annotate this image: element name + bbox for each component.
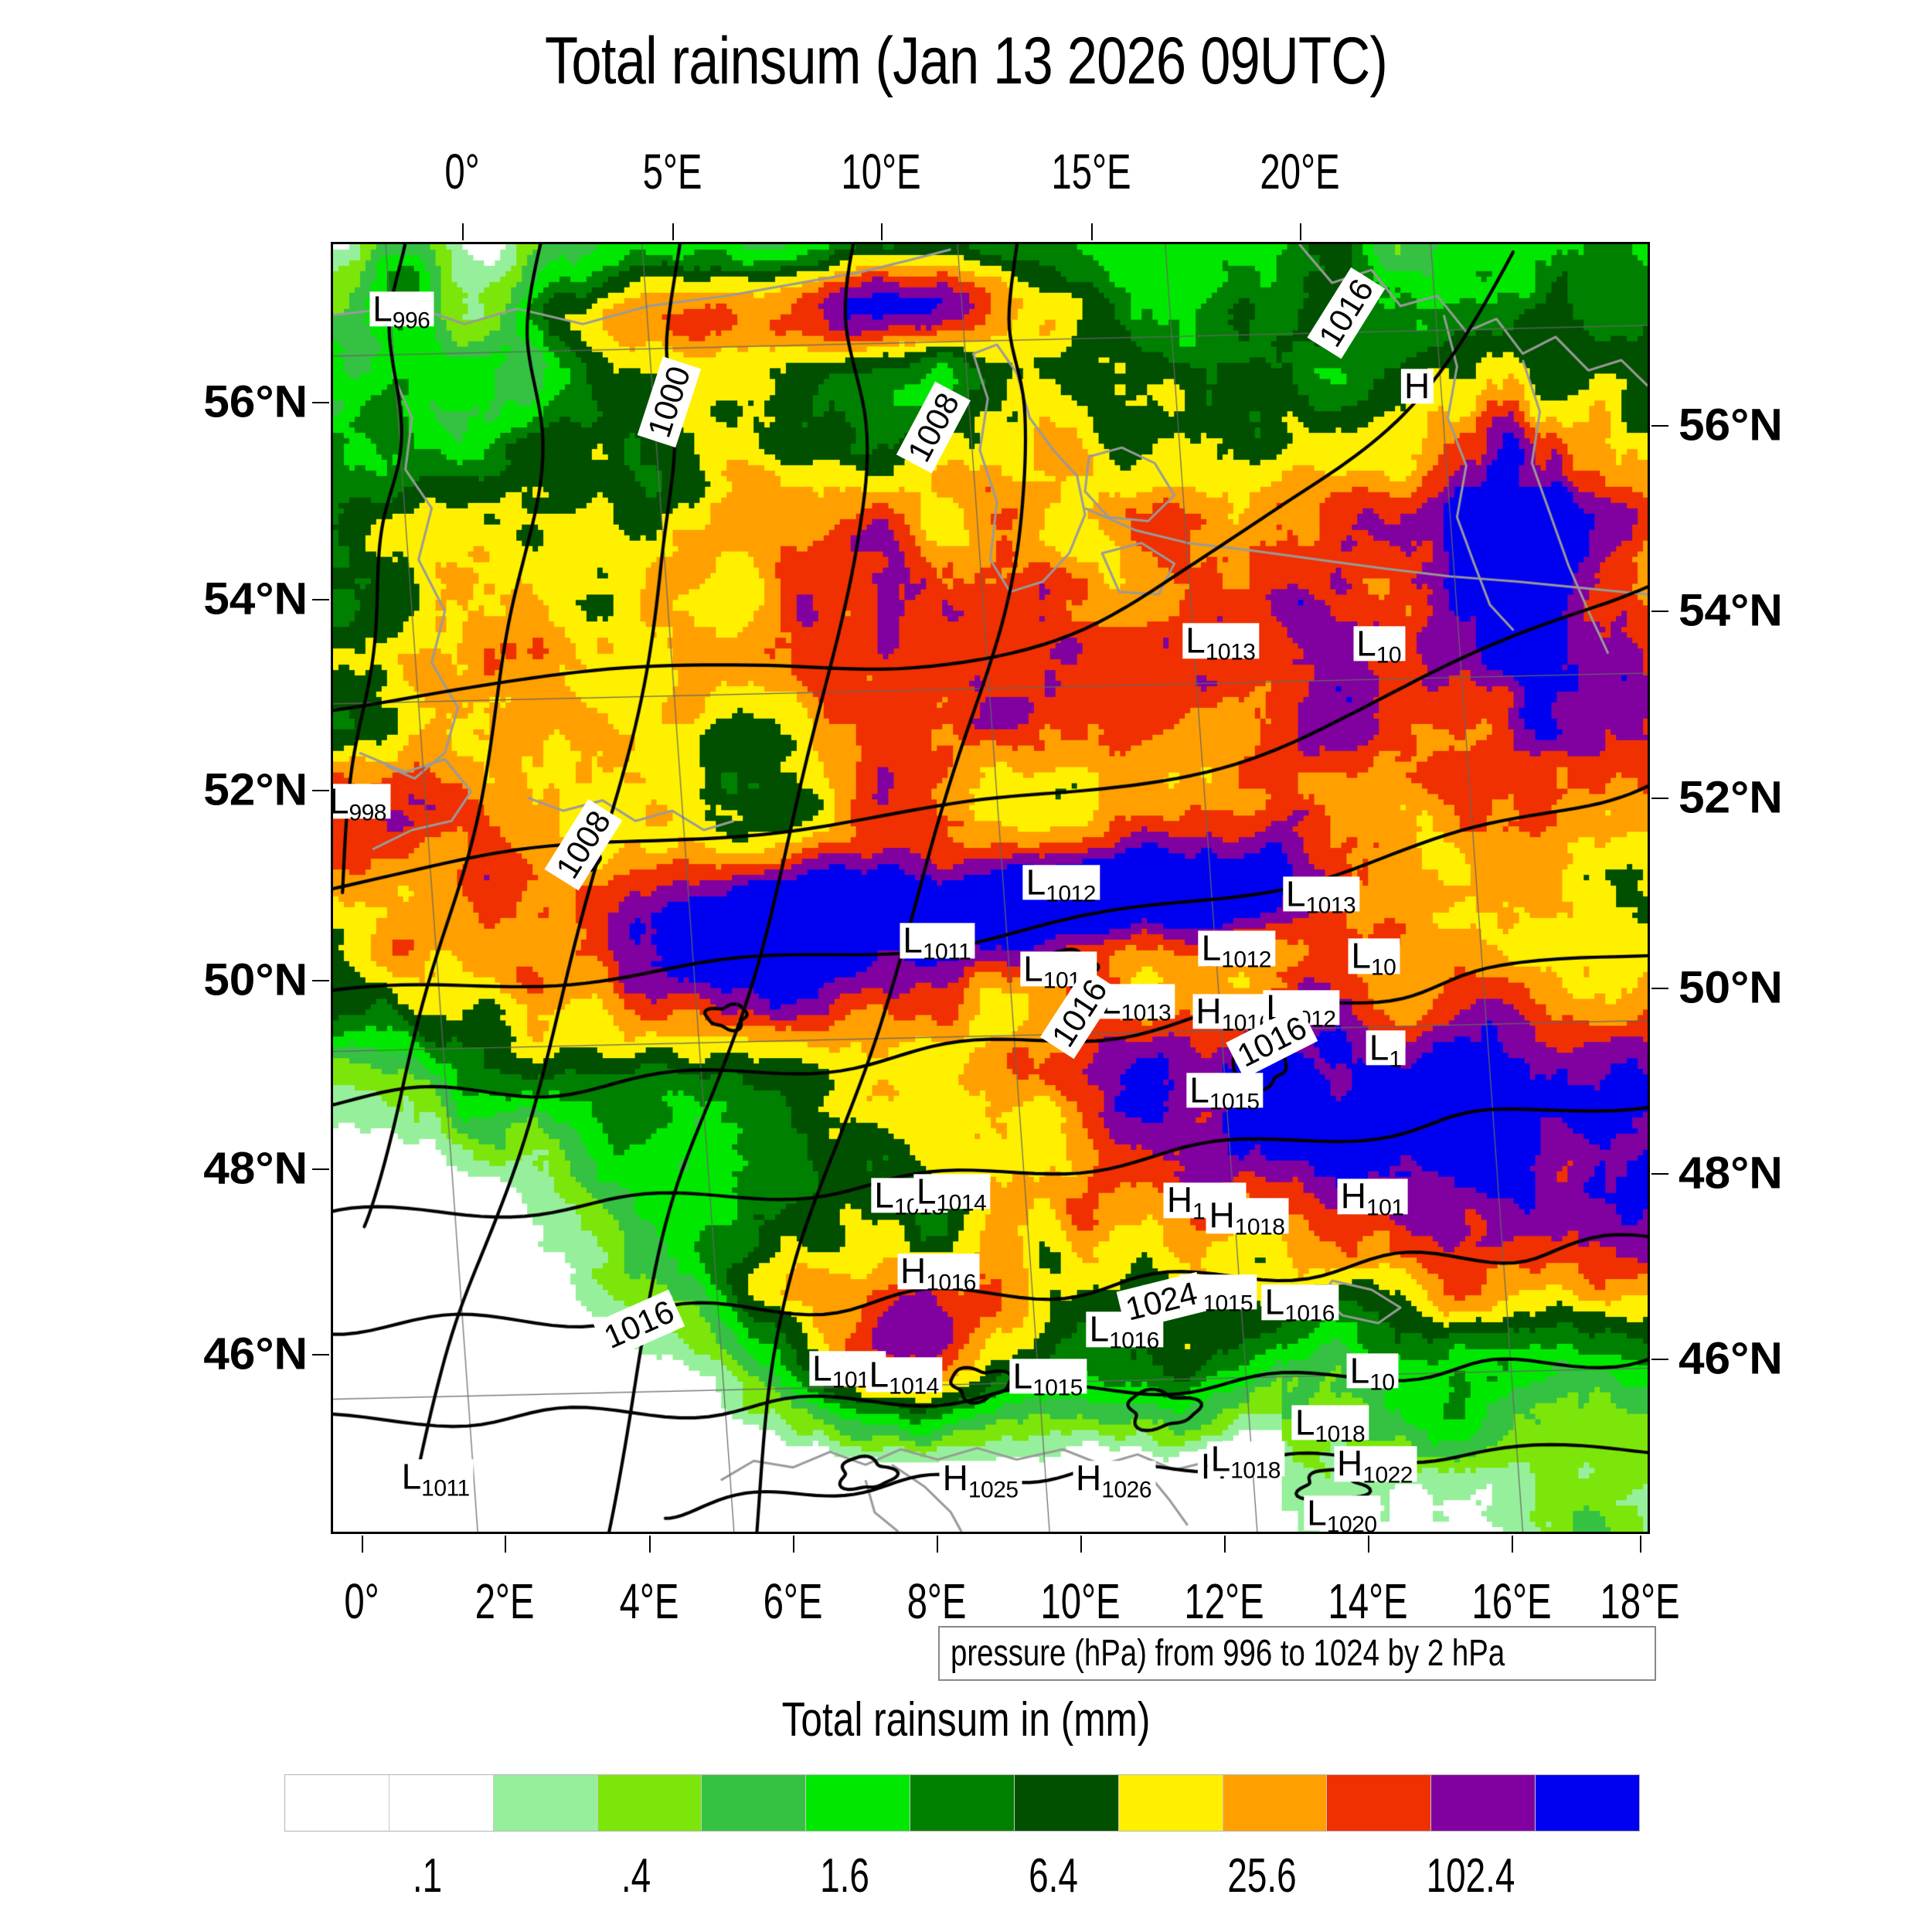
pressure-center-type: H — [900, 1251, 926, 1291]
pressure-center-type: L — [1185, 621, 1206, 661]
pressure-center-value: 1018 — [1235, 1215, 1285, 1240]
lat-right-label-0: 56°N — [1679, 400, 1783, 451]
pressure-center-type: L — [869, 1354, 889, 1394]
pressure-center-value: 1015 — [1209, 1090, 1260, 1115]
lat-left-label-4: 48°N — [203, 1143, 308, 1195]
tick-lon-bottom-0 — [362, 1536, 363, 1553]
colorbar-label-4: 25.6 — [1227, 1849, 1296, 1903]
tick-lon-bottom-4 — [937, 1536, 938, 1553]
colorbar-label-0: .1 — [413, 1849, 442, 1903]
lon-bottom-label-2: 4°E — [620, 1573, 679, 1630]
pressure-center-type: L — [903, 920, 923, 961]
tick-lat-left-0 — [312, 402, 329, 403]
colorbar[interactable] — [284, 1774, 1640, 1832]
pressure-center-l-3: L10 — [1353, 626, 1405, 661]
pressure-center-l-17: L1014 — [913, 1174, 990, 1209]
pressure-center-type: L — [1202, 928, 1222, 968]
pressure-center-value: 10 — [1371, 955, 1396, 981]
map-plot-area[interactable]: L996L998L1013L10HL1012L1013L1011L1013L10… — [331, 242, 1650, 1534]
lon-bottom-label-0: 0° — [344, 1573, 379, 1630]
pressure-center-value: 1025 — [968, 1477, 1019, 1502]
lon-bottom-label-9: 18°E — [1600, 1573, 1679, 1630]
pressure-center-l-36: L1020 — [1304, 1495, 1380, 1530]
lon-bottom-label-6: 12°E — [1184, 1573, 1264, 1630]
pressure-center-type: L — [1350, 1350, 1370, 1390]
pressure-center-type: H — [1341, 1176, 1366, 1216]
pressure-center-value: 1015 — [1032, 1375, 1083, 1400]
tick-lon-bottom-2 — [649, 1536, 651, 1553]
pressure-center-value: 1018 — [1230, 1458, 1281, 1483]
lat-left-label-3: 50°N — [203, 954, 308, 1006]
tick-lat-right-1 — [1651, 611, 1668, 612]
pressure-center-type: H — [1076, 1458, 1101, 1498]
tick-lat-left-5 — [312, 1354, 329, 1355]
pressure-center-type: L — [1023, 948, 1043, 988]
pressure-center-value: 1 — [1389, 1046, 1401, 1072]
pressure-center-l-23: L1016 — [1262, 1285, 1338, 1320]
pressure-center-type: L — [1286, 873, 1306, 913]
pressure-center-l-1: L998 — [331, 784, 390, 818]
rainfall-heatmap-canvas — [333, 244, 1648, 1532]
pressure-center-value: 1014 — [889, 1373, 939, 1399]
lon-bottom-label-5: 10°E — [1040, 1573, 1120, 1630]
lon-bottom-label-4: 8°E — [907, 1573, 967, 1630]
lat-right-label-5: 46°N — [1679, 1333, 1783, 1385]
tick-lon-bottom-5 — [1080, 1536, 1082, 1553]
pressure-center-h-4: H — [1401, 369, 1434, 403]
pressure-center-l-0: L996 — [369, 291, 434, 326]
tick-lon-top-3 — [1091, 223, 1093, 240]
colorbar-title: Total rainsum in (mm) — [0, 1692, 1932, 1747]
pressure-center-type: L — [372, 288, 393, 328]
pressure-center-type: H — [1337, 1444, 1362, 1484]
tick-lat-right-5 — [1651, 1359, 1668, 1360]
pressure-center-value: 1013 — [1121, 1000, 1171, 1026]
lat-left-label-2: 52°N — [203, 764, 308, 816]
colorbar-cell-7[interactable] — [1015, 1775, 1119, 1831]
pressure-center-type: H — [1404, 366, 1430, 406]
colorbar-cell-9[interactable] — [1223, 1775, 1328, 1831]
pressure-center-type: L — [331, 781, 349, 821]
pressure-center-type: L — [917, 1171, 937, 1211]
lon-top-label-1: 5°E — [643, 143, 702, 200]
colorbar-cell-8[interactable] — [1119, 1775, 1223, 1831]
pressure-center-type: L — [1211, 1438, 1231, 1478]
pressure-center-value: 1020 — [1327, 1512, 1377, 1534]
pressure-center-l-27: L1015 — [1010, 1359, 1087, 1393]
pressure-center-h-21: H1016 — [897, 1254, 980, 1289]
tick-lat-right-3 — [1651, 988, 1668, 989]
lon-bottom-label-7: 14°E — [1328, 1573, 1407, 1630]
lon-top-label-4: 20°E — [1260, 143, 1339, 200]
pressure-center-type: H — [1167, 1180, 1192, 1220]
colorbar-cell-4[interactable] — [702, 1775, 806, 1831]
page-title: Total rainsum (Jan 13 2026 09UTC) — [174, 23, 1758, 100]
pressure-center-type: L — [1356, 623, 1376, 663]
pressure-center-type: L — [1026, 862, 1046, 902]
pressure-legend-text: pressure (hPa) from 996 to 1024 by 2 hPa — [951, 1632, 1505, 1675]
colorbar-label-5: 102.4 — [1427, 1849, 1515, 1903]
lat-left-label-5: 46°N — [203, 1328, 308, 1380]
lon-top-label-2: 10°E — [841, 143, 920, 200]
pressure-center-l-9: L1012 — [1199, 931, 1275, 966]
pressure-center-l-6: L1013 — [1283, 876, 1359, 911]
pressure-center-value: 10 — [1369, 1369, 1394, 1395]
tick-lon-top-2 — [881, 223, 883, 240]
pressure-contour-legend: pressure (hPa) from 996 to 1024 by 2 hPa — [938, 1626, 1656, 1681]
pressure-center-l-10: L10 — [1348, 939, 1400, 974]
pressure-center-value: 1014 — [937, 1190, 987, 1216]
lon-top-label-0: 0° — [444, 143, 479, 200]
tick-lon-bottom-7 — [1368, 1536, 1369, 1553]
pressure-center-l-30: L1011 — [399, 1459, 474, 1494]
pressure-center-value: 1026 — [1101, 1477, 1151, 1502]
pressure-center-type: L — [1295, 1402, 1315, 1442]
tick-lon-bottom-8 — [1512, 1536, 1513, 1553]
lon-bottom-label-1: 2°E — [475, 1573, 535, 1630]
pressure-center-l-34: L1018 — [1208, 1441, 1284, 1476]
lat-left-label-1: 54°N — [203, 573, 308, 625]
colorbar-cell-5[interactable] — [806, 1775, 910, 1831]
colorbar-cell-6[interactable] — [910, 1775, 1015, 1831]
pressure-center-l-29: L1018 — [1292, 1405, 1369, 1440]
colorbar-cell-0[interactable] — [285, 1775, 389, 1831]
lat-right-label-4: 48°N — [1679, 1148, 1783, 1199]
pressure-center-type: L — [1090, 1309, 1110, 1349]
colorbar-cell-2[interactable] — [494, 1775, 598, 1831]
pressure-center-l-26: L1014 — [866, 1357, 942, 1392]
lon-bottom-label-8: 16°E — [1471, 1573, 1551, 1630]
lat-left-label-0: 56°N — [203, 376, 308, 428]
pressure-center-h-32: H1026 — [1073, 1461, 1155, 1495]
tick-lon-bottom-6 — [1224, 1536, 1226, 1553]
tick-lon-bottom-1 — [505, 1536, 506, 1553]
pressure-center-type: L — [874, 1175, 894, 1215]
pressure-center-l-5: L1012 — [1023, 865, 1100, 900]
pressure-center-value: 998 — [349, 800, 386, 825]
pressure-center-h-31: H1025 — [940, 1461, 1022, 1495]
pressure-center-l-2: L1013 — [1182, 624, 1259, 658]
pressure-center-type: L — [1307, 1492, 1327, 1532]
pressure-center-value: 1016 — [926, 1270, 976, 1296]
pressure-center-type: L — [1013, 1355, 1033, 1396]
pressure-center-type: H — [1196, 992, 1221, 1032]
pressure-center-value: 101 — [1366, 1196, 1404, 1221]
pressure-center-value: 1015 — [1202, 1291, 1253, 1316]
pressure-center-value: 1016 — [1109, 1328, 1159, 1354]
pressure-center-type: H — [1209, 1196, 1234, 1236]
tick-lat-left-1 — [312, 599, 329, 600]
lon-bottom-label-3: 6°E — [764, 1573, 823, 1630]
colorbar-cell-10[interactable] — [1327, 1775, 1431, 1831]
tick-lon-bottom-9 — [1640, 1536, 1641, 1553]
tick-lat-right-4 — [1651, 1173, 1668, 1175]
pressure-center-type: L — [812, 1348, 832, 1388]
pressure-center-value: 1022 — [1362, 1463, 1413, 1488]
pressure-center-value: 1012 — [1221, 947, 1271, 973]
pressure-center-type: L — [1351, 936, 1371, 976]
colorbar-cell-11[interactable] — [1431, 1775, 1536, 1831]
pressure-center-value: 1013 — [1206, 640, 1256, 665]
pressure-center-value: 1011 — [421, 1475, 470, 1501]
pressure-center-value: 10 — [1376, 642, 1401, 668]
colorbar-cell-3[interactable] — [598, 1775, 702, 1831]
pressure-center-l-15: L1015 — [1186, 1073, 1263, 1108]
tick-lat-left-3 — [312, 980, 329, 981]
pressure-center-type: L — [402, 1456, 422, 1496]
tick-lon-bottom-3 — [793, 1536, 794, 1553]
tick-lat-left-2 — [312, 790, 329, 791]
colorbar-label-3: 6.4 — [1029, 1849, 1078, 1903]
colorbar-cell-12[interactable] — [1536, 1775, 1639, 1831]
pressure-center-l-7: L1011 — [900, 923, 975, 958]
lat-right-label-3: 50°N — [1679, 962, 1783, 1014]
tick-lat-right-0 — [1651, 425, 1668, 427]
colorbar-label-1: .4 — [621, 1849, 651, 1903]
colorbar-title-text: Total rainsum in (mm) — [782, 1692, 1151, 1747]
pressure-center-h-35: H1022 — [1334, 1447, 1417, 1481]
pressure-center-h-19: H1018 — [1206, 1199, 1288, 1233]
tick-lat-left-4 — [312, 1168, 329, 1170]
pressure-center-type: L — [1265, 1282, 1285, 1322]
pressure-center-value: 1013 — [1305, 893, 1355, 918]
lat-right-label-1: 54°N — [1679, 585, 1783, 637]
pressure-center-value: 996 — [393, 308, 430, 333]
pressure-center-type: L — [1189, 1070, 1209, 1111]
colorbar-cell-1[interactable] — [389, 1775, 494, 1831]
tick-lat-right-2 — [1651, 798, 1668, 799]
pressure-center-value: 1012 — [1046, 881, 1096, 906]
tick-lon-top-0 — [462, 223, 464, 240]
pressure-center-l-28: L10 — [1347, 1353, 1399, 1388]
pressure-center-value: 1016 — [1284, 1301, 1335, 1327]
colorbar-label-2: 1.6 — [820, 1849, 869, 1903]
lon-top-label-3: 15°E — [1051, 143, 1131, 200]
tick-lon-top-4 — [1300, 223, 1301, 240]
pressure-center-l-14: L1 — [1366, 1030, 1406, 1065]
tick-lon-top-1 — [672, 223, 674, 240]
pressure-center-value: 1011 — [923, 940, 971, 965]
pressure-center-type: L — [1369, 1027, 1389, 1067]
lat-right-label-2: 52°N — [1679, 772, 1783, 824]
pressure-center-type: H — [943, 1458, 968, 1498]
pressure-center-h-20: H101 — [1338, 1179, 1408, 1214]
